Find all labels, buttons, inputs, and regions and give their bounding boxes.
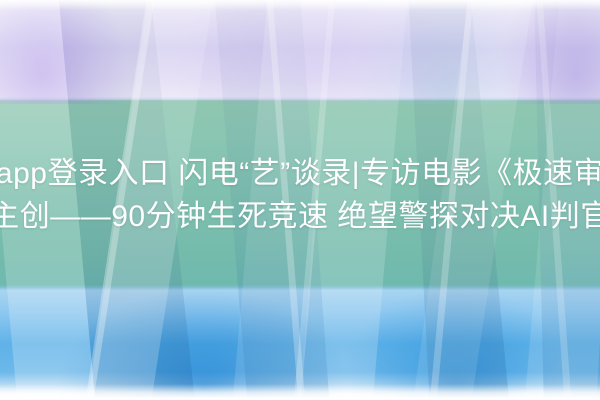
top-edge-fade <box>0 0 600 10</box>
bottom-edge-fade <box>0 384 600 400</box>
background-blue-glow <box>0 284 600 400</box>
banner-image: 开云app登录入口 闪电“艺”谈录|专访电影《极速审判》主创——90分钟生死竞速… <box>0 0 600 400</box>
background-lavender-glow <box>0 0 600 104</box>
